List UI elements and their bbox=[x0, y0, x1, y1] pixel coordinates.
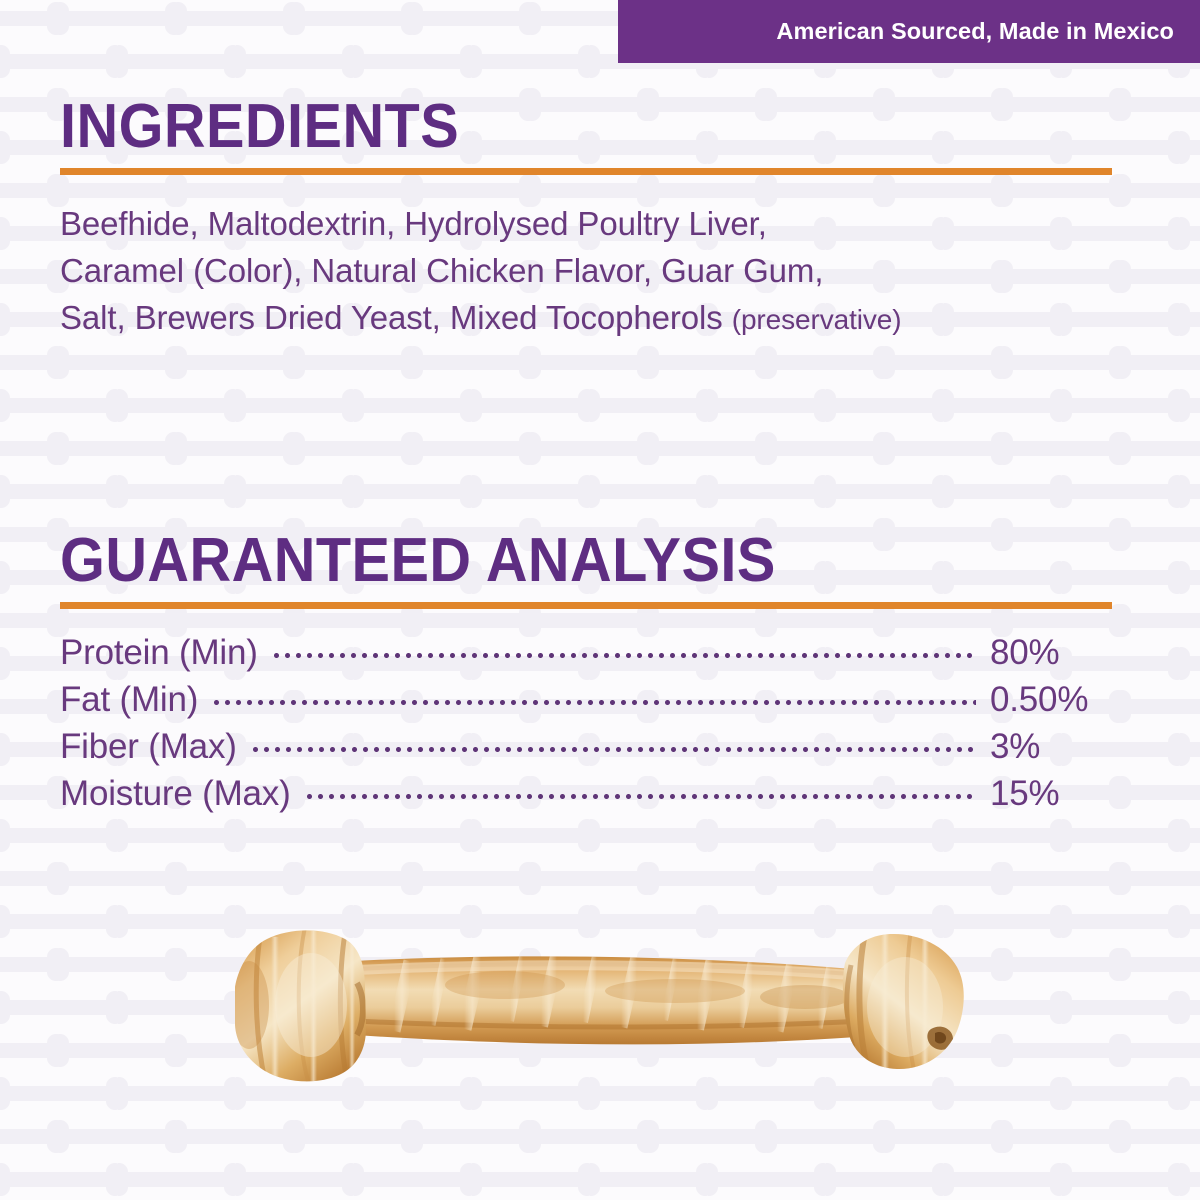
ingredients-line-3: Salt, Brewers Dried Yeast, Mixed Tocophe… bbox=[60, 294, 1170, 343]
table-row: Fiber (Max) 3% bbox=[60, 727, 1140, 774]
ingredients-line-2: Caramel (Color), Natural Chicken Flavor,… bbox=[60, 247, 1170, 294]
dot-leader bbox=[253, 738, 976, 758]
product-info-panel: American Sourced, Made in Mexico INGREDI… bbox=[0, 0, 1200, 1200]
ingredients-section: INGREDIENTS Beefhide, Maltodextrin, Hydr… bbox=[60, 96, 1170, 343]
analysis-value: 15% bbox=[990, 774, 1140, 814]
table-row: Fat (Min) 0.50% bbox=[60, 680, 1140, 727]
ingredients-text: Beefhide, Maltodextrin, Hydrolysed Poult… bbox=[60, 200, 1170, 343]
dot-leader bbox=[274, 644, 976, 664]
origin-banner: American Sourced, Made in Mexico bbox=[618, 0, 1200, 63]
analysis-value: 0.50% bbox=[990, 680, 1140, 720]
table-row: Protein (Min) 80% bbox=[60, 633, 1140, 680]
chew-knot-left bbox=[229, 927, 366, 1085]
guaranteed-analysis-divider bbox=[60, 602, 1112, 609]
analysis-label: Protein (Min) bbox=[60, 633, 258, 673]
ingredients-divider bbox=[60, 168, 1112, 175]
analysis-label: Fiber (Max) bbox=[60, 727, 237, 767]
ingredients-heading: INGREDIENTS bbox=[60, 96, 1092, 158]
rawhide-chew-illustration bbox=[205, 925, 995, 1085]
chew-knot-right bbox=[843, 929, 964, 1075]
guaranteed-analysis-table: Protein (Min) 80% Fat (Min) 0.50% Fiber … bbox=[60, 633, 1140, 821]
analysis-label: Moisture (Max) bbox=[60, 774, 291, 814]
analysis-value: 80% bbox=[990, 633, 1140, 673]
product-photo-rawhide-chew bbox=[205, 925, 995, 1085]
ingredients-line-1: Beefhide, Maltodextrin, Hydrolysed Poult… bbox=[60, 200, 1170, 247]
table-row: Moisture (Max) 15% bbox=[60, 774, 1140, 821]
guaranteed-analysis-heading: GUARANTEED ANALYSIS bbox=[60, 530, 1064, 592]
ingredients-line-3-main: Salt, Brewers Dried Yeast, Mixed Tocophe… bbox=[60, 299, 732, 336]
dot-leader bbox=[214, 691, 976, 711]
analysis-label: Fat (Min) bbox=[60, 680, 198, 720]
guaranteed-analysis-section: GUARANTEED ANALYSIS Protein (Min) 80% Fa… bbox=[60, 530, 1140, 821]
ingredients-preservative-note: (preservative) bbox=[732, 304, 902, 335]
chew-shaft bbox=[355, 956, 865, 1044]
dot-leader bbox=[307, 785, 976, 805]
analysis-value: 3% bbox=[990, 727, 1140, 767]
origin-banner-text: American Sourced, Made in Mexico bbox=[776, 18, 1174, 45]
